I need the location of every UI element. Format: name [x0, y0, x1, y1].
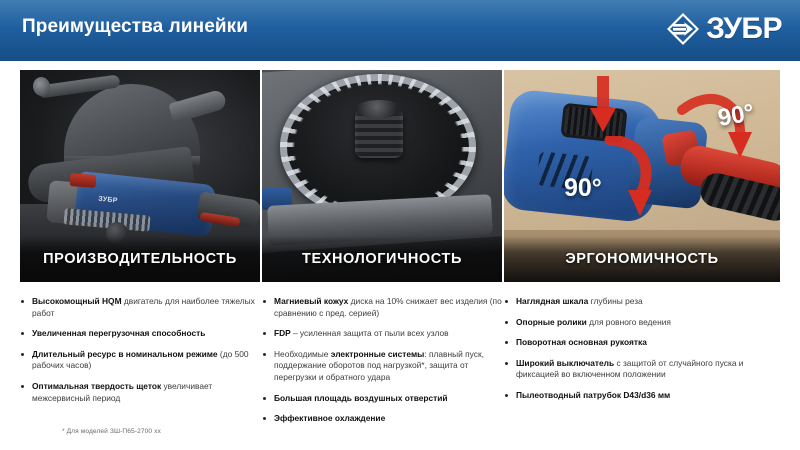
disc-hub-top-shape: [355, 100, 403, 118]
feature-list-performance: Высокомощный HQM двигатель для наиболее …: [20, 282, 260, 404]
feature-card-ergonomics: 90° 90° ЭРГОНОМИЧНОСТЬ Наглядная шкала г…: [504, 70, 780, 411]
bullet-bold-text: Увеличенная перегрузочная способность: [32, 328, 205, 338]
bullet-bold-text: Высокомощный HQM: [32, 296, 124, 306]
bullet-bold-text: Эффективное охлаждение: [274, 413, 385, 423]
bullet-bold-text: электронные системы: [331, 349, 425, 359]
zubr-diamond-arrow-icon: [666, 12, 700, 46]
list-item: Наглядная шкала глубины реза: [504, 296, 780, 308]
bullet-bold-text: FDP: [274, 328, 293, 338]
brand-logo: ЗУБР: [666, 10, 782, 48]
page-title: Преимущества линейки: [22, 16, 248, 38]
card-photo-technology: ТЕХНОЛОГИЧНОСТЬ: [262, 70, 502, 282]
list-item: Увеличенная перегрузочная способность: [20, 328, 260, 340]
page-header: Преимущества линейки ЗУБР: [0, 0, 800, 58]
feature-list-ergonomics: Наглядная шкала глубины реза Опорные рол…: [504, 282, 780, 402]
bullet-text: – усиленная защита от пыли всех узлов: [293, 328, 449, 338]
list-item: Большая площадь воздушных отверстий: [262, 393, 502, 405]
feature-list-technology: Магниевый кожух диска на 10% снижает вес…: [262, 282, 502, 425]
bullet-bold-text: Пылеотводный патрубок D43/d36 мм: [516, 390, 670, 400]
card-caption-ergonomics: ЭРГОНОМИЧНОСТЬ: [504, 236, 780, 282]
list-item: Необходимые электронные системы: плавный…: [262, 349, 502, 384]
bullet-bold-text: Поворотная основная рукоятка: [516, 337, 647, 347]
card-photo-ergonomics: 90° 90° ЭРГОНОМИЧНОСТЬ: [504, 70, 780, 282]
feature-card-technology: ТЕХНОЛОГИЧНОСТЬ Магниевый кожух диска на…: [262, 70, 502, 434]
list-item: Длительный ресурс в номинальном режиме (…: [20, 349, 260, 372]
down-arrow-icon: [590, 76, 616, 132]
list-item: Опорные ролики для ровного ведения: [504, 317, 780, 329]
rotation-arrow-left-icon: [604, 136, 660, 220]
list-item: FDP – усиленная защита от пыли всех узло…: [262, 328, 502, 340]
list-item: Поворотная основная рукоятка: [504, 337, 780, 349]
card-caption-technology: ТЕХНОЛОГИЧНОСТЬ: [262, 236, 502, 282]
header-divider: [0, 58, 800, 61]
bullet-bold-text: Магниевый кожух: [274, 296, 351, 306]
brand-wordmark: ЗУБР: [706, 12, 782, 46]
footnote: * Для моделей ЗШ-П65-2700 хх: [62, 428, 161, 435]
bullet-bold-text: Длительный ресурс в номинальном режиме: [32, 349, 220, 359]
bullet-text: глубины реза: [591, 296, 643, 306]
list-item: Пылеотводный патрубок D43/d36 мм: [504, 390, 780, 402]
list-item: Оптимальная твердость щеток увеличивает …: [20, 381, 260, 404]
bullet-text: Необходимые: [274, 349, 331, 359]
card-photo-performance: ЗУБР ПРОИЗВОДИТЕЛЬНОСТЬ: [20, 70, 260, 282]
angle-label-left: 90°: [564, 174, 602, 203]
list-item: Эффективное охлаждение: [262, 413, 502, 425]
feature-card-performance: ЗУБР ПРОИЗВОДИТЕЛЬНОСТЬ Высокомощный HQM…: [20, 70, 260, 413]
list-item: Широкий выключатель с защитой от случайн…: [504, 358, 780, 381]
bullet-bold-text: Оптимальная твердость щеток: [32, 381, 163, 391]
bullet-bold-text: Широкий выключатель: [516, 358, 616, 368]
bullet-text: для ровного ведения: [589, 317, 671, 327]
card-caption-performance: ПРОИЗВОДИТЕЛЬНОСТЬ: [20, 236, 260, 282]
list-item: Магниевый кожух диска на 10% снижает вес…: [262, 296, 502, 319]
red-button-shape: [70, 173, 97, 188]
bullet-bold-text: Наглядная шкала: [516, 296, 591, 306]
bullet-bold-text: Опорные ролики: [516, 317, 589, 327]
feature-cards: ЗУБР ПРОИЗВОДИТЕЛЬНОСТЬ Высокомощный HQM…: [0, 70, 800, 415]
list-item: Высокомощный HQM двигатель для наиболее …: [20, 296, 260, 319]
dust-port-shape: [168, 89, 227, 124]
bullet-bold-text: Большая площадь воздушных отверстий: [274, 393, 448, 403]
